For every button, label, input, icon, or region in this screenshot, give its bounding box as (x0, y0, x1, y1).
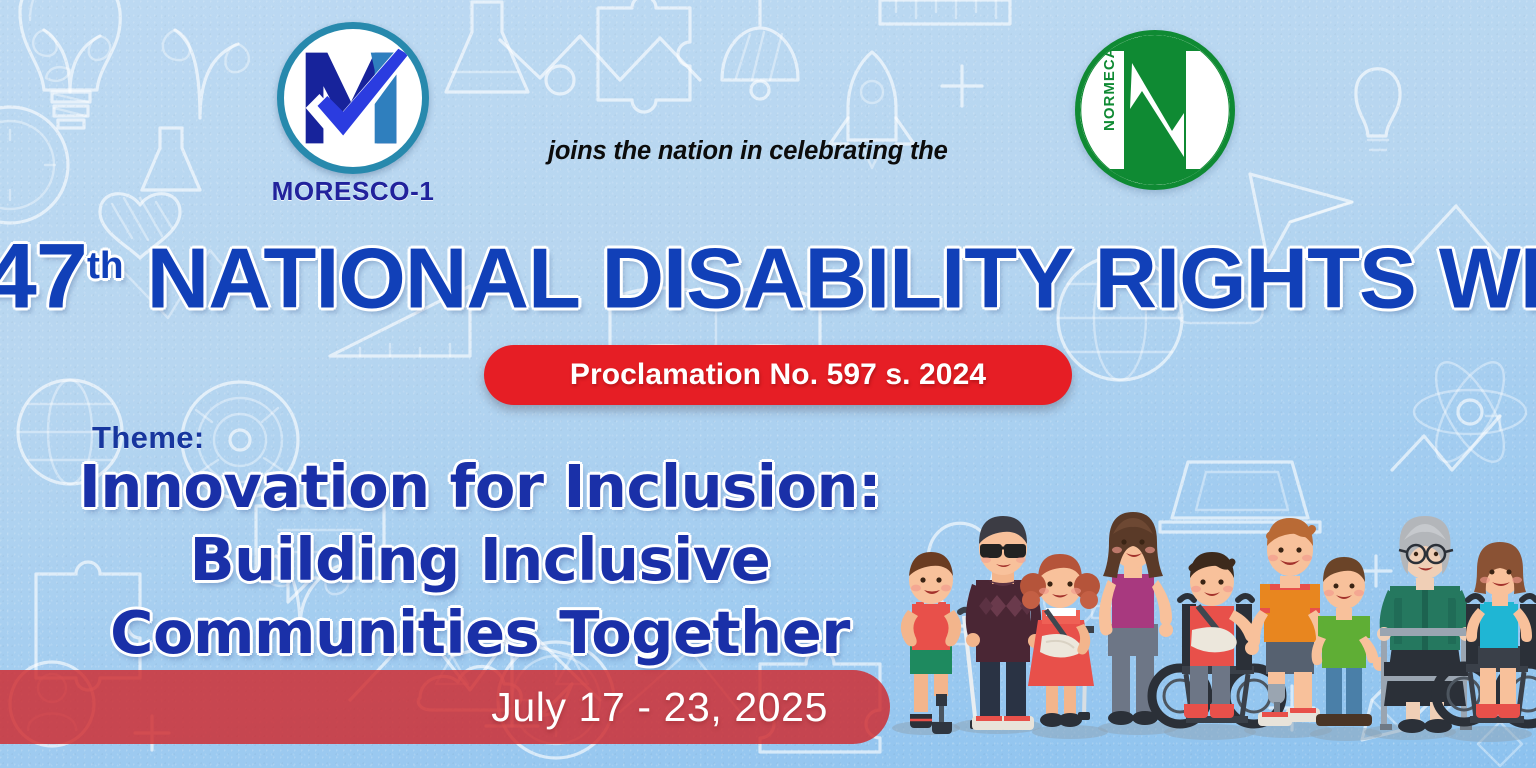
moresco-logo-mark (284, 29, 422, 167)
woman-standing (1099, 512, 1173, 725)
group-of-people-with-disabilities-illustration (880, 480, 1536, 768)
svg-text:NORMECA: NORMECA (1101, 47, 1118, 132)
theme-line-2: Building Inclusive (60, 523, 900, 596)
moresco-1-logo (277, 22, 429, 174)
page-title: 47th NATIONAL DISABILITY RIGHTS WEEK (0, 221, 1536, 324)
proclamation-text: Proclamation No. 597 s. 2024 (570, 358, 986, 392)
theme-text: Innovation for Inclusion: Building Inclu… (60, 450, 900, 669)
boy-in-wheelchair-with-arm-sling (1152, 552, 1282, 724)
man-with-sunglasses-and-white-cane (960, 516, 1042, 730)
theme-line-3: Communities Together (60, 596, 900, 669)
tagline-text: joins the nation in celebrating the (548, 137, 998, 166)
boy-with-prosthetic-leg (901, 552, 961, 734)
date-text: July 17 - 23, 2025 (491, 684, 828, 731)
ordinal-number: 47 (0, 225, 87, 327)
elderly-woman-with-walker (1377, 516, 1473, 733)
moresco-logo-ring (277, 22, 429, 174)
normeca-logo-mark: NORMECA (1080, 35, 1230, 185)
theme-line-1: Innovation for Inclusion: (60, 450, 900, 523)
boy-in-green-shirt (1312, 557, 1387, 726)
proclamation-badge: Proclamation No. 597 s. 2024 (484, 345, 1072, 405)
date-banner: July 17 - 23, 2025 (0, 670, 890, 744)
ordinal-suffix: th (87, 245, 124, 287)
normeca-logo: NORMECA (1075, 30, 1235, 190)
poster-canvas: MORESCO-1 NORMECA joins the nation in ce… (0, 0, 1536, 768)
headline-title: NATIONAL DISABILITY RIGHTS WEEK (147, 231, 1536, 326)
moresco-1-label: MORESCO-1 (255, 176, 451, 207)
